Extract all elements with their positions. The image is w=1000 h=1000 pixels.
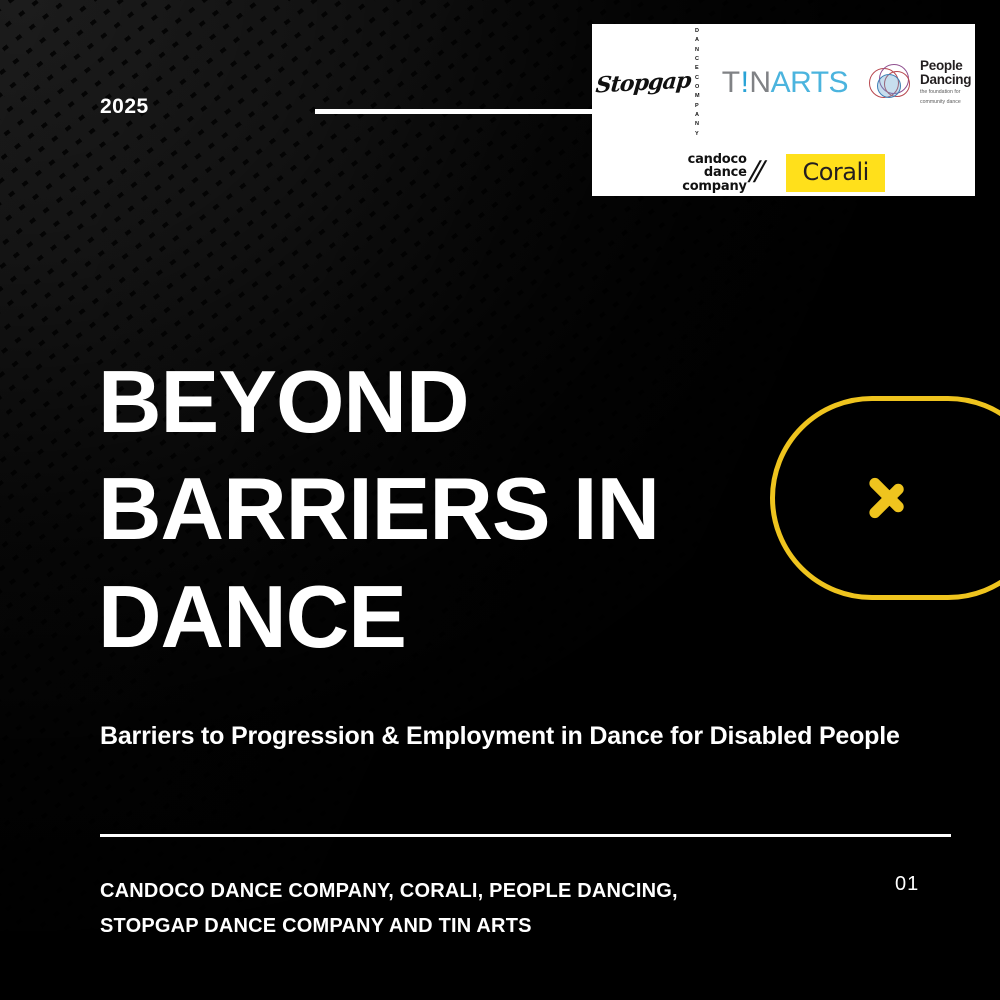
stopgap-subtitle-line2: C O M P A N Y: [695, 74, 702, 139]
page-subtitle: Barriers to Progression & Employment in …: [100, 722, 900, 751]
people-dancing-tagline2: community dance: [920, 99, 971, 107]
people-dancing-tagline1: the foundation for: [920, 89, 971, 97]
people-dancing-line2: Dancing: [920, 73, 971, 87]
people-dancing-circles-icon: [868, 63, 914, 103]
people-dancing-logo: People Dancing the foundation for commun…: [868, 59, 971, 106]
stopgap-wordmark: Stopgap: [594, 67, 691, 98]
page-number: 01: [895, 873, 919, 896]
stopgap-subtitle-line1: D A N C E: [695, 27, 702, 74]
next-slide-button[interactable]: [770, 396, 1000, 600]
header-divider-rule: [315, 109, 592, 114]
page-title: BEYOND BARRIERS IN DANCE: [98, 348, 738, 670]
candoco-slashes-icon: //: [745, 158, 764, 188]
partner-logos-row-2: candoco dance company // Corali: [606, 153, 961, 193]
partner-logos-panel: Stopgap D A N C E C O M P A N Y T!NARTS …: [592, 24, 975, 196]
corali-logo: Corali: [786, 154, 884, 192]
partner-logos-row-1: Stopgap D A N C E C O M P A N Y T!NARTS …: [606, 27, 961, 139]
footer-organisations: CANDOCO DANCE COMPANY, CORALI, PEOPLE DA…: [100, 874, 780, 944]
stopgap-subtitle: D A N C E C O M P A N Y: [695, 27, 702, 139]
candoco-wordmark: candoco dance company: [682, 153, 747, 193]
candoco-line1: candoco: [682, 153, 747, 166]
year-label: 2025: [100, 96, 149, 117]
tinarts-word-arts: ARTS: [771, 68, 848, 98]
people-dancing-wordmark: People Dancing the foundation for commun…: [920, 59, 971, 106]
stopgap-dance-company-logo: Stopgap D A N C E C O M P A N Y: [596, 27, 702, 139]
people-dancing-line1: People: [920, 59, 971, 73]
candoco-dance-company-logo: candoco dance company //: [682, 153, 760, 193]
tinarts-exclamation-icon: !: [740, 68, 750, 98]
slide-cover: 2025 Stopgap D A N C E C O M P A N Y T!N…: [0, 0, 1000, 1000]
candoco-line2: dance: [682, 166, 747, 179]
chevron-right-icon: [867, 460, 913, 536]
candoco-line3: company: [682, 180, 747, 193]
tinarts-letter-n: N: [749, 68, 770, 98]
tin-arts-logo: T!NARTS: [722, 68, 848, 98]
footer-divider-rule: [100, 834, 951, 837]
tinarts-letter-t: T: [722, 68, 740, 98]
